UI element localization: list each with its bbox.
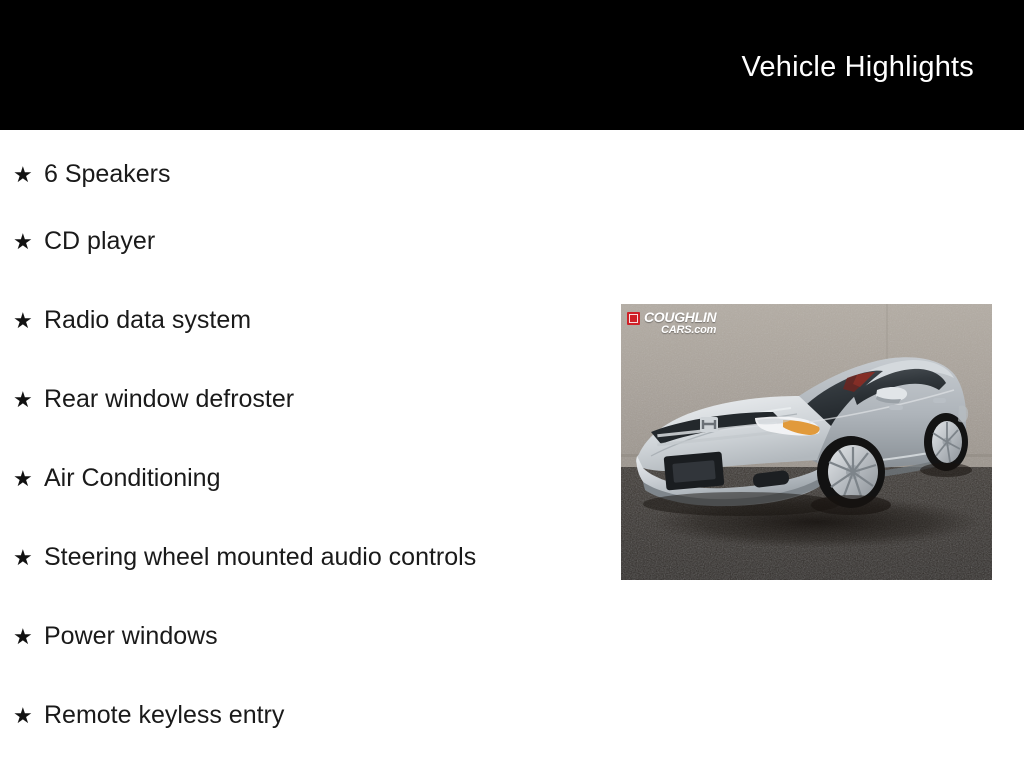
star-bullet-icon: ★	[13, 626, 33, 648]
list-item-label: Steering wheel mounted audio controls	[44, 543, 476, 572]
star-bullet-icon: ★	[13, 705, 33, 727]
list-item-label: Rear window defroster	[44, 385, 294, 414]
star-bullet-icon: ★	[13, 310, 33, 332]
star-bullet-icon: ★	[13, 468, 33, 490]
list-item: ★ Steering wheel mounted audio controls	[0, 518, 610, 597]
list-item-label: Power windows	[44, 622, 218, 651]
list-item: ★ Rear window defroster	[0, 360, 610, 439]
vehicle-highlights-list: ★ 6 Speakers ★ CD player ★ Radio data sy…	[0, 130, 610, 755]
list-item: ★ Power windows	[0, 597, 610, 676]
page-title: Vehicle Highlights	[741, 50, 974, 84]
star-bullet-icon: ★	[13, 389, 33, 411]
list-item: ★ Air Conditioning	[0, 439, 610, 518]
header-bar: Vehicle Highlights	[0, 0, 1024, 130]
list-item: ★ 6 Speakers	[0, 130, 610, 202]
list-item-label: Radio data system	[44, 306, 251, 335]
star-bullet-icon: ★	[13, 164, 33, 186]
list-item: ★ CD player	[0, 202, 610, 281]
vehicle-photo: COUGHLIN CARS.com	[621, 304, 992, 580]
star-bullet-icon: ★	[13, 231, 33, 253]
list-item-label: 6 Speakers	[44, 160, 170, 189]
list-item-label: Air Conditioning	[44, 464, 221, 493]
list-item-label: Remote keyless entry	[44, 701, 284, 730]
list-item-label: CD player	[44, 227, 155, 256]
list-item: ★ Remote keyless entry	[0, 676, 610, 755]
vehicle-photo-illustration	[621, 304, 992, 580]
list-item: ★ Radio data system	[0, 281, 610, 360]
star-bullet-icon: ★	[13, 547, 33, 569]
